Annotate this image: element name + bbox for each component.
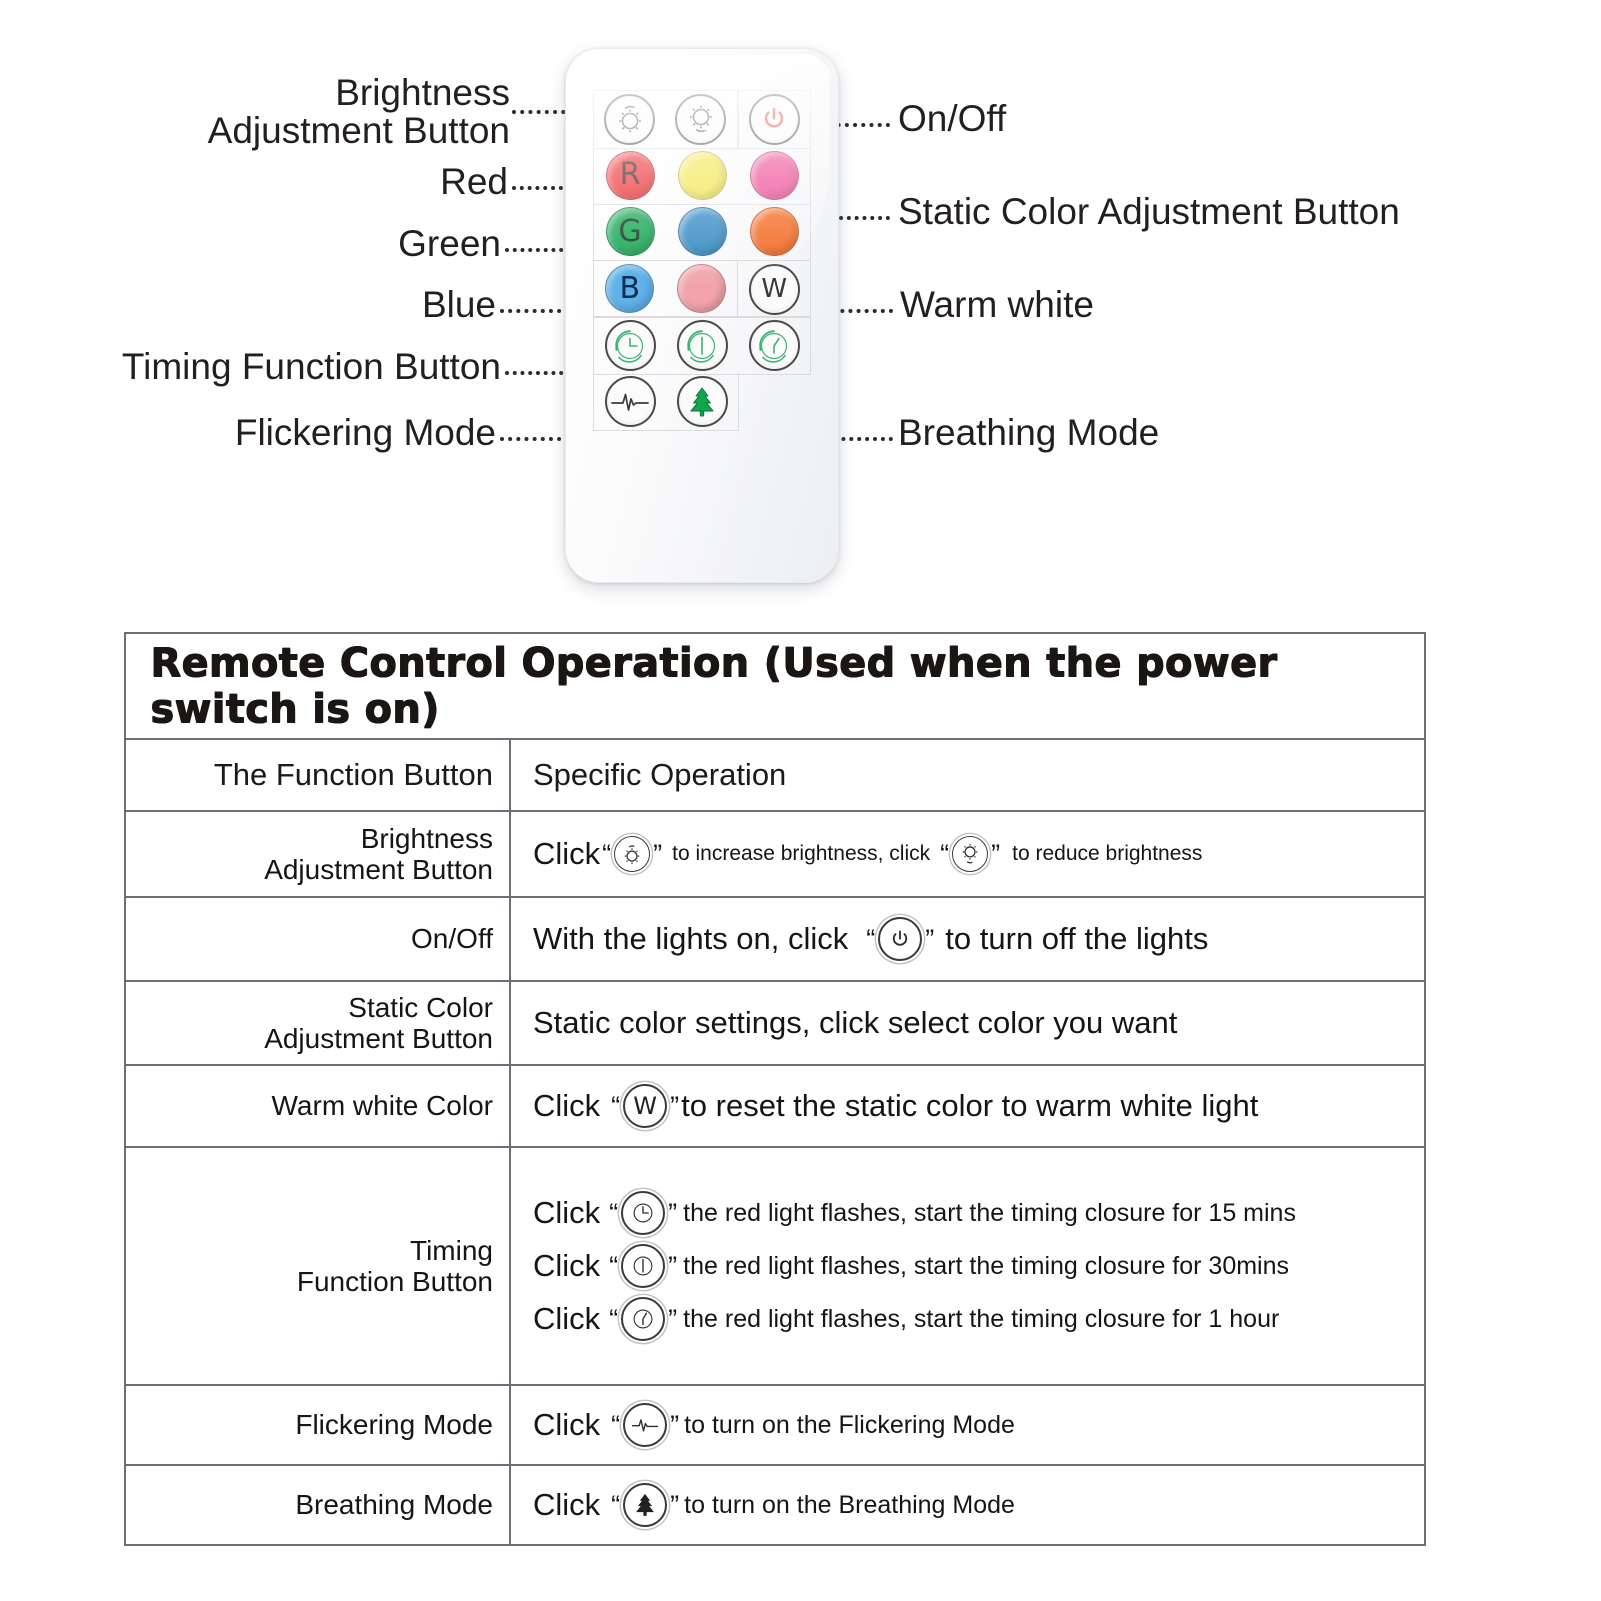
quote-close: ”: [670, 1093, 679, 1120]
icon-letter: W: [633, 1092, 657, 1120]
remote-keypad: R G: [593, 91, 811, 431]
keypad-empty-cell: [739, 374, 811, 431]
row-label-static-color: Static Color Adjustment Button: [125, 981, 510, 1065]
color-orange-button[interactable]: [738, 204, 811, 262]
sun-up-icon: [604, 94, 655, 145]
remote-diagram: Brightness Adjustment Button Red Green B…: [0, 0, 1601, 610]
clock-30-icon: [621, 1244, 665, 1288]
quote-close: ”: [653, 841, 662, 868]
color-swatch-icon: [750, 207, 799, 256]
clock-15-icon: [605, 320, 656, 371]
row-op-warm-white: Click “ W ” to reset the static color to…: [510, 1065, 1425, 1147]
breathing-mode-button[interactable]: [666, 373, 739, 431]
quote-close: ”: [668, 1306, 677, 1333]
brightness-up-button[interactable]: [593, 90, 665, 149]
row-label-timing: Timing Function Button: [125, 1147, 510, 1385]
row-op-timing: Click “ ” the red light flashes, start t…: [510, 1147, 1425, 1385]
warm-white-button[interactable]: W: [737, 260, 811, 319]
button-letter: R: [620, 160, 641, 190]
keypad-row-6: [593, 374, 811, 431]
row-op-flickering: Click “ ” to turn on the Flickering Mode: [510, 1385, 1425, 1465]
table-row: Timing Function Button Click “ ”: [125, 1147, 1425, 1385]
header-specific-operation: Specific Operation: [510, 739, 1425, 811]
color-yellow-button[interactable]: [666, 147, 738, 205]
label-line-2: Adjustment Button: [120, 112, 510, 150]
color-swatch-icon: R: [606, 151, 655, 200]
row-op-brightness: Click “ ” to incr: [510, 811, 1425, 897]
keypad-row-1: [593, 91, 811, 148]
quote-close: ”: [991, 841, 1000, 868]
timer-30min-button[interactable]: [666, 316, 738, 375]
quote-open: “: [611, 1093, 620, 1120]
timing-line-30min: Click “ ” the red light flashes, start t…: [533, 1244, 1424, 1288]
table-row: Warm white Color Click “ W ” to reset th…: [125, 1065, 1425, 1147]
power-button[interactable]: [738, 90, 811, 149]
color-swatch-icon: [677, 264, 726, 313]
table-row: Flickering Mode Click “ ” to turn on the…: [125, 1385, 1425, 1465]
keypad-row-4: B W: [593, 261, 811, 318]
remote-control-body: R G: [565, 48, 839, 583]
letter-w-icon: W: [623, 1084, 667, 1128]
operation-table-wrapper: Remote Control Operation (Used when the …: [124, 632, 1426, 1546]
quote-open: “: [609, 1306, 618, 1333]
color-swatch-icon: B: [605, 264, 654, 313]
label-line-1: Brightness: [120, 74, 510, 112]
timer-1hour-button[interactable]: [738, 316, 811, 375]
table-row: Brightness Adjustment Button Click “: [125, 811, 1425, 897]
keypad-row-2: R: [593, 148, 811, 205]
quote-close: ”: [925, 926, 934, 953]
quote-open: “: [611, 1412, 620, 1439]
quote-open: “: [866, 926, 875, 953]
row-op-onoff: With the lights on, click “ ” to turn of…: [510, 897, 1425, 981]
quote-close: ”: [670, 1492, 679, 1519]
color-swatch-icon: [678, 207, 727, 256]
color-magenta-button[interactable]: [738, 147, 811, 205]
table-title-cell: Remote Control Operation (Used when the …: [125, 633, 1425, 739]
row-op-static-color: Static color settings, click select colo…: [510, 981, 1425, 1065]
remote-operation-table: Remote Control Operation (Used when the …: [124, 632, 1426, 1546]
page-title: Remote Control Operation (Used when the …: [150, 640, 1277, 732]
row-op-breathing: Click “ ” to turn on the Breathing M: [510, 1465, 1425, 1545]
label-red: Red: [120, 163, 508, 201]
label-timing-function-button: Timing Function Button: [60, 348, 501, 386]
header-function-button: The Function Button: [125, 739, 510, 811]
row-label-brightness: Brightness Adjustment Button: [125, 811, 510, 897]
clock-60-icon: [621, 1297, 665, 1341]
label-static-color-adjustment-button: Static Color Adjustment Button: [898, 193, 1400, 231]
keypad-row-3: G: [593, 204, 811, 261]
row-label-breathing: Breathing Mode: [125, 1465, 510, 1545]
button-letter: W: [761, 274, 787, 304]
label-breathing-mode: Breathing Mode: [898, 414, 1159, 452]
quote-close: ”: [668, 1200, 677, 1227]
power-icon: [878, 917, 922, 961]
label-blue: Blue: [120, 286, 496, 324]
table-row: On/Off With the lights on, click “ ”: [125, 897, 1425, 981]
row-label-warm-white: Warm white Color: [125, 1065, 510, 1147]
brightness-down-button[interactable]: [665, 90, 737, 149]
quote-open: “: [609, 1200, 618, 1227]
sun-up-icon: [614, 836, 650, 872]
label-onoff: On/Off: [898, 100, 1006, 138]
row-label-onoff: On/Off: [125, 897, 510, 981]
color-lightblue-button[interactable]: B: [593, 260, 666, 318]
button-letter: B: [620, 274, 641, 304]
color-salmon-button[interactable]: [666, 260, 738, 318]
timing-line-1hour: Click “ ” the red light flashes, start t…: [533, 1297, 1424, 1341]
keypad-row-5: [593, 317, 811, 374]
quote-open: “: [609, 1253, 618, 1280]
quote-open: “: [602, 841, 611, 868]
color-swatch-icon: [750, 151, 799, 200]
tree-icon: [677, 376, 728, 427]
label-flickering-mode: Flickering Mode: [110, 414, 496, 452]
tree-icon: [623, 1483, 667, 1527]
label-warm-white: Warm white: [900, 286, 1094, 324]
table-row: Static Color Adjustment Button Static co…: [125, 981, 1425, 1065]
color-blue-button[interactable]: [666, 204, 738, 262]
row-label-flickering: Flickering Mode: [125, 1385, 510, 1465]
power-icon: [749, 94, 800, 145]
table-row: Breathing Mode Click “: [125, 1465, 1425, 1545]
quote-close: ”: [668, 1253, 677, 1280]
table-header-row: The Function Button Specific Operation: [125, 739, 1425, 811]
color-red-button[interactable]: R: [593, 147, 666, 205]
color-swatch-icon: G: [606, 207, 655, 256]
sun-down-icon: [952, 836, 988, 872]
clock-60-icon: [749, 320, 800, 371]
color-green-button[interactable]: G: [593, 204, 666, 262]
label-green: Green: [120, 225, 501, 263]
timer-15min-button[interactable]: [593, 316, 666, 375]
letter-w-icon: W: [749, 264, 800, 315]
quote-open: “: [611, 1492, 620, 1519]
pulse-wave-icon: [623, 1403, 667, 1447]
quote-open: “: [940, 841, 949, 868]
clock-30-icon: [677, 320, 728, 371]
pulse-wave-icon: [605, 376, 656, 427]
sun-down-icon: [675, 94, 726, 145]
button-letter: G: [618, 217, 641, 247]
color-swatch-icon: [678, 151, 727, 200]
label-brightness-adjustment-button: Brightness Adjustment Button: [120, 74, 510, 149]
table-title-row: Remote Control Operation (Used when the …: [125, 633, 1425, 739]
quote-close: ”: [670, 1412, 679, 1439]
flickering-mode-button[interactable]: [593, 373, 666, 431]
timing-line-15min: Click “ ” the red light flashes, start t…: [533, 1191, 1424, 1235]
clock-15-icon: [621, 1191, 665, 1235]
